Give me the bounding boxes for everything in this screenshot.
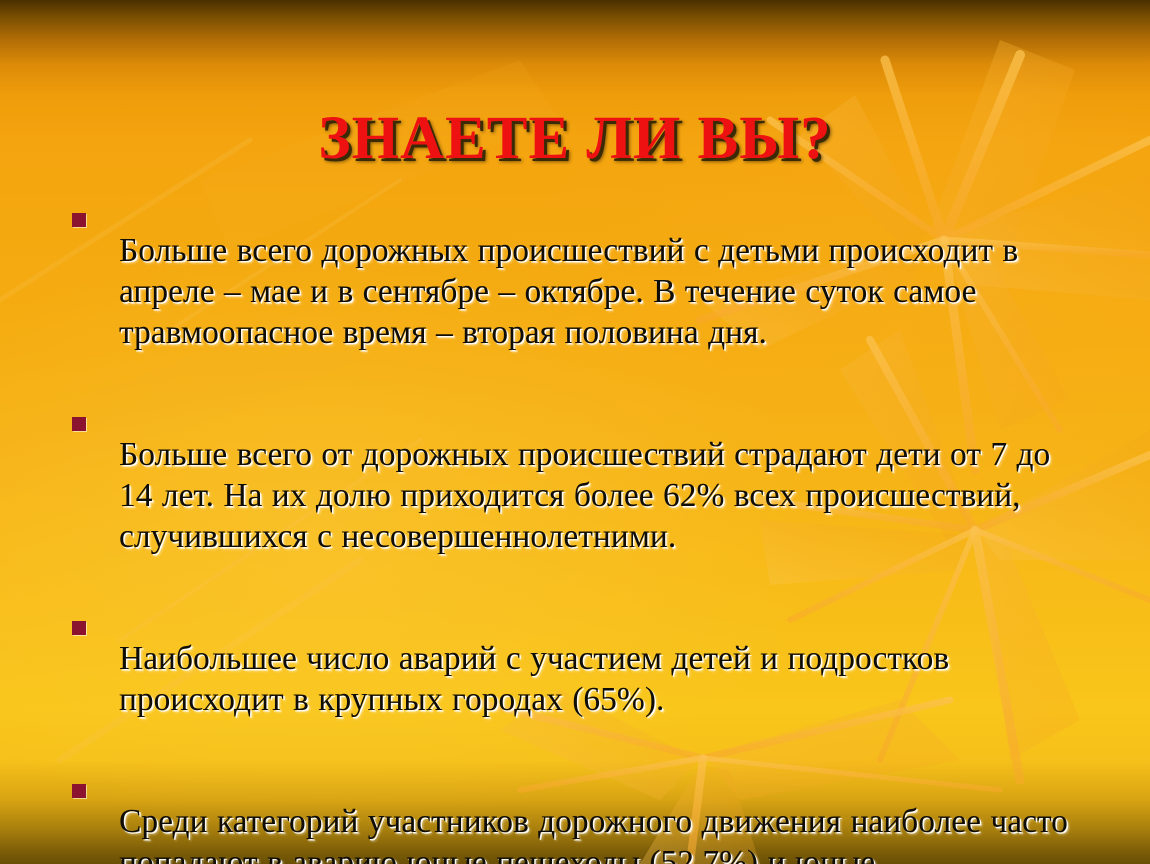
bullet-text-2: Больше всего от дорожных происшествий ст…: [119, 434, 1082, 557]
slide-title: ЗНАЕТЕ ЛИ ВЫ?: [318, 107, 831, 171]
bullet-list: Больше всего дорожных происшествий с дет…: [62, 196, 1082, 864]
list-item: Больше всего от дорожных происшествий ст…: [62, 400, 1082, 590]
bullet-text-3: Наибольшее число аварий с участием детей…: [119, 638, 1082, 720]
square-bullet-icon: [72, 621, 86, 635]
square-bullet-icon: [72, 784, 86, 798]
list-item: Среди категорий участников дорожного дви…: [62, 767, 1082, 864]
bullet-text-1: Больше всего дорожных происшествий с дет…: [119, 230, 1082, 353]
slide-title-container: ЗНАЕТЕ ЛИ ВЫ?: [0, 66, 1150, 212]
list-item: Наибольшее число аварий с участием детей…: [62, 604, 1082, 753]
square-bullet-icon: [72, 213, 86, 227]
list-item: Больше всего дорожных происшествий с дет…: [62, 196, 1082, 386]
presentation-slide: ЗНАЕТЕ ЛИ ВЫ? Больше всего дорожных прои…: [0, 0, 1150, 864]
square-bullet-icon: [72, 417, 86, 431]
bullet-text-4: Среди категорий участников дорожного дви…: [119, 801, 1082, 864]
